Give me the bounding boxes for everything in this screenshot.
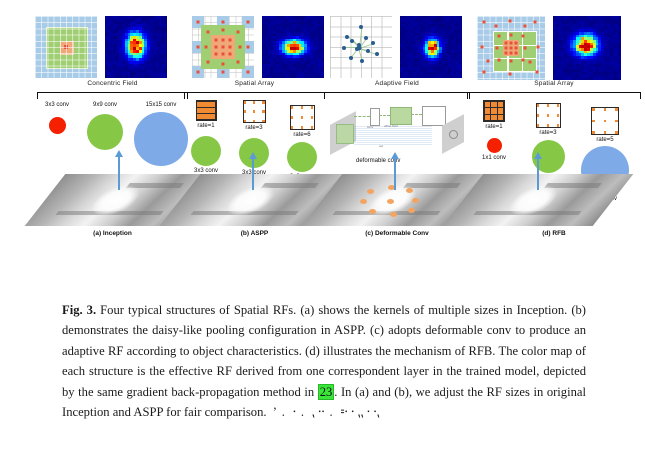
kernel-item-a-0: 3x3 conv: [35, 100, 79, 134]
panel-a-maps: [35, 16, 167, 78]
panel-b-maps: [192, 16, 324, 78]
effective-rf-heatmap-rfb: [553, 16, 621, 80]
adaptive-field-map: [330, 16, 392, 78]
field-label-d: Spatial Array: [465, 80, 643, 87]
panel-aspp: Spatial Array rate=1 3x3 conv rate=3 3x3…: [182, 8, 327, 248]
kernel-label-d-0: 1x1 conv: [469, 155, 519, 161]
kernel-circle-a-2: [134, 112, 188, 166]
field-label-a: Concentric Field: [35, 80, 190, 87]
figure-caption: Fig. 3. Four typical structures of Spati…: [62, 300, 586, 422]
panel-c-maps: [330, 16, 462, 78]
spatial-array-daisy-map: [192, 16, 254, 78]
kernel-item-b-1: rate=3 3x3 conv: [232, 100, 276, 176]
citation-link-23[interactable]: 23: [318, 384, 335, 400]
kernel-item-b-2: rate=6 3x3 conv: [280, 105, 324, 180]
rate-label-d-0: rate=1: [469, 124, 519, 130]
panel-caption-b: (b) ASPP: [182, 230, 327, 237]
kernel-item-d-1: rate=3 3x3 conv: [523, 103, 573, 181]
arrow-up-a: [118, 156, 120, 190]
effective-rf-heatmap-inception: [105, 16, 167, 78]
concentric-field-map: [35, 16, 97, 78]
panel-rfb: Spatial Array rate=1 1x1 conv rate=3 3x3…: [465, 8, 643, 248]
kernel-item-b-0: rate=1 3x3 conv: [184, 100, 228, 174]
panel-inception: Concentric Field 3x3 conv 9x9 conv 15x15…: [35, 8, 190, 248]
bracket-b: [184, 92, 325, 99]
rate-label-b-2: rate=6: [280, 132, 324, 138]
kernel-label-a-0: 3x3 conv: [35, 102, 79, 108]
panel-deformable-conv: Adaptive Field conv offset field out def…: [322, 8, 472, 248]
field-label-b: Spatial Array: [182, 80, 327, 87]
caption-label: Fig. 3.: [62, 303, 96, 317]
bracket-d: [467, 92, 641, 99]
kernel-item-a-1: 9x9 conv: [80, 100, 130, 150]
kernel-circle-b-0: [191, 136, 221, 166]
rate-label-d-1: rate=3: [523, 130, 573, 136]
kernel-item-d-0: rate=1 1x1 conv: [469, 100, 519, 161]
effective-rf-heatmap-aspp: [262, 16, 324, 78]
kernel-circle-d-0: [487, 138, 502, 153]
spatial-array-rfb-map: [477, 16, 545, 80]
arrow-up-d: [537, 158, 539, 190]
bracket-a: [37, 92, 188, 99]
arrow-up-b: [252, 158, 254, 190]
panel-caption-a: (a) Inception: [35, 230, 190, 237]
rate-label-b-0: rate=1: [184, 123, 228, 129]
arrow-up-c: [394, 158, 396, 190]
bracket-c: [324, 92, 470, 99]
caption-faded-tail: n. ʼ﹒ ⸱﹒ ⹁ ⸱⸱﹒ ⹀⸱ ⸱ ⹁⹁ ⸱ ⸱⹁: [257, 405, 380, 419]
field-label-c: Adaptive Field: [322, 80, 472, 87]
panel-caption-d: (d) RFB: [465, 230, 643, 237]
deformable-conv-diagram: conv offset field out: [324, 104, 470, 156]
kernel-label-a-1: 9x9 conv: [80, 102, 130, 108]
kernel-circle-a-1: [87, 114, 123, 150]
kernel-circle-a-0: [49, 117, 66, 134]
panel-caption-c: (c) Deformable Conv: [322, 230, 472, 237]
effective-rf-heatmap-deformable: [400, 16, 462, 78]
panel-d-maps: [477, 16, 621, 80]
figure-3-illustration: Concentric Field 3x3 conv 9x9 conv 15x15…: [0, 0, 645, 250]
kernel-circle-b-2: [287, 142, 317, 172]
rate-label-d-2: rate=5: [577, 137, 633, 143]
rate-label-b-1: rate=3: [232, 125, 276, 131]
